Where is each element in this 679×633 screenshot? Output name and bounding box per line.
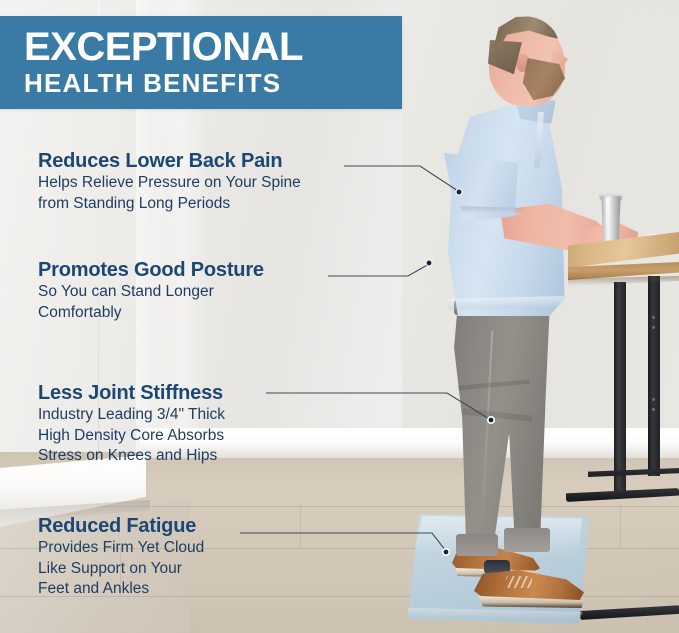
benefit-body-line: Feet and Ankles [38, 579, 204, 598]
benefit-body-line: Provides Firm Yet Cloud [38, 538, 204, 557]
benefit-block-reduces-lower-back-pain: Reduces Lower Back Pain Helps Relieve Pr… [38, 150, 301, 213]
banner-headline-secondary: HEALTH BENEFITS [24, 69, 402, 98]
benefit-block-promotes-good-posture: Promotes Good Posture So You can Stand L… [38, 259, 264, 322]
benefit-body-line: Helps Relieve Pressure on Your Spine [38, 173, 301, 192]
benefit-title: Reduces Lower Back Pain [38, 150, 301, 172]
benefit-title: Promotes Good Posture [38, 259, 264, 281]
benefit-body-line: Comfortably [38, 303, 264, 322]
benefit-title: Less Joint Stiffness [38, 382, 225, 404]
benefit-body-line: Industry Leading 3/4" Thick [38, 405, 225, 424]
banner-headline-primary: EXCEPTIONAL [24, 28, 402, 67]
benefit-block-less-joint-stiffness: Less Joint Stiffness Industry Leading 3/… [38, 382, 225, 465]
benefit-title: Reduced Fatigue [38, 515, 204, 537]
benefit-body-line: So You can Stand Longer [38, 282, 264, 301]
title-banner: EXCEPTIONAL HEALTH BENEFITS [0, 16, 402, 109]
benefit-body-line: High Density Core Absorbs [38, 426, 225, 445]
benefit-body-line: Stress on Knees and Hips [38, 446, 225, 465]
infographic-root: EXCEPTIONAL HEALTH BENEFITS Reduces Lowe… [0, 0, 679, 633]
benefit-block-reduced-fatigue: Reduced Fatigue Provides Firm Yet Cloud … [38, 515, 204, 598]
benefit-body-line: Like Support on Your [38, 559, 204, 578]
benefit-body-line: from Standing Long Periods [38, 194, 301, 213]
